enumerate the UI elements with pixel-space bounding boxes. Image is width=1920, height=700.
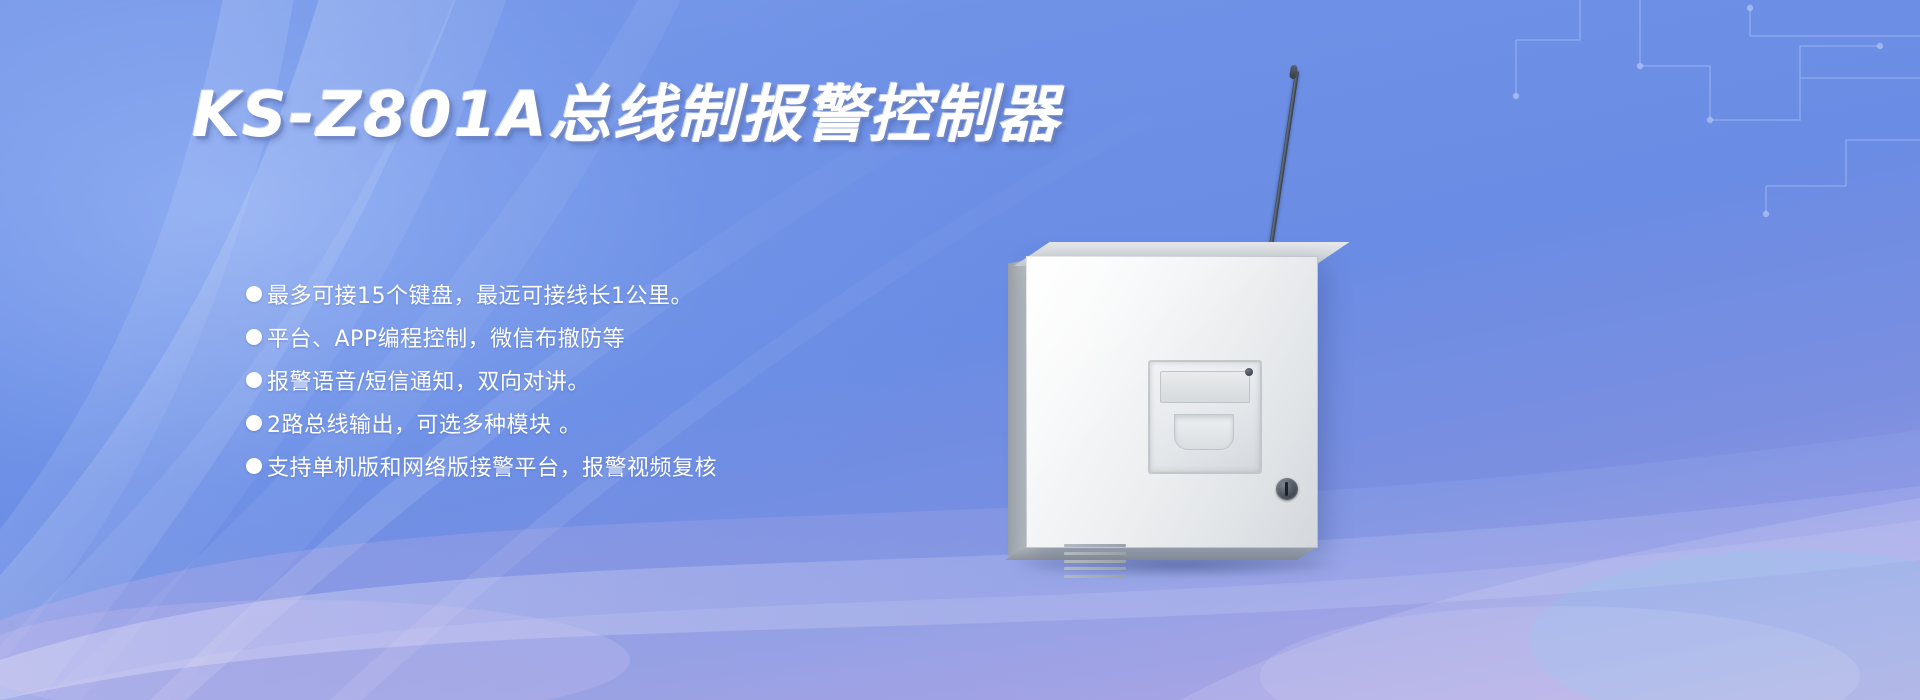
vent-slot <box>1064 560 1126 563</box>
feature-text: 最多可接15个键盘，最远可接线长1公里。 <box>267 278 693 310</box>
bullet-dot-icon <box>246 372 262 388</box>
feature-text: 2路总线输出，可选多种模块 。 <box>267 407 582 439</box>
status-led-icon <box>1245 368 1253 376</box>
page-title: KS-Z801A总线制报警控制器 <box>192 72 1192 158</box>
list-item: 平台、APP编程控制，微信布撤防等 <box>246 315 1066 358</box>
list-item: 支持单机版和网络版接警平台，报警视频复核 <box>246 444 1066 487</box>
enclosure-bottom <box>1005 546 1318 560</box>
product-image <box>1008 160 1428 560</box>
bullet-dot-icon <box>246 415 262 431</box>
bullet-dot-icon <box>246 458 262 474</box>
enclosure-front-door <box>1026 256 1318 548</box>
list-item: 2路总线输出，可选多种模块 。 <box>246 401 1066 444</box>
list-item: 报警语音/短信通知，双向对讲。 <box>246 358 1066 401</box>
list-item: 最多可接15个键盘，最远可接线长1公里。 <box>246 272 1066 315</box>
door-handle <box>1174 414 1234 450</box>
ventilation-slots <box>1064 544 1126 578</box>
lock-cylinder-icon <box>1276 478 1298 500</box>
vent-slot <box>1064 575 1126 578</box>
vent-slot <box>1064 552 1126 555</box>
vent-slot <box>1064 567 1126 570</box>
feature-text: 平台、APP编程控制，微信布撤防等 <box>267 321 625 353</box>
bullet-dot-icon <box>246 286 262 302</box>
banner-title-wrap: KS-Z801A总线制报警控制器 <box>192 72 1192 162</box>
display-screen <box>1160 371 1250 403</box>
product-banner: KS-Z801A总线制报警控制器 最多可接15个键盘，最远可接线长1公里。 平台… <box>0 0 1920 700</box>
feature-text: 支持单机版和网络版接警平台，报警视频复核 <box>267 450 717 482</box>
keypad-window <box>1148 360 1262 474</box>
feature-text: 报警语音/短信通知，双向对讲。 <box>267 364 590 396</box>
feature-list: 最多可接15个键盘，最远可接线长1公里。 平台、APP编程控制，微信布撤防等 报… <box>246 272 1066 487</box>
bullet-dot-icon <box>246 329 262 345</box>
vent-slot <box>1064 544 1126 547</box>
